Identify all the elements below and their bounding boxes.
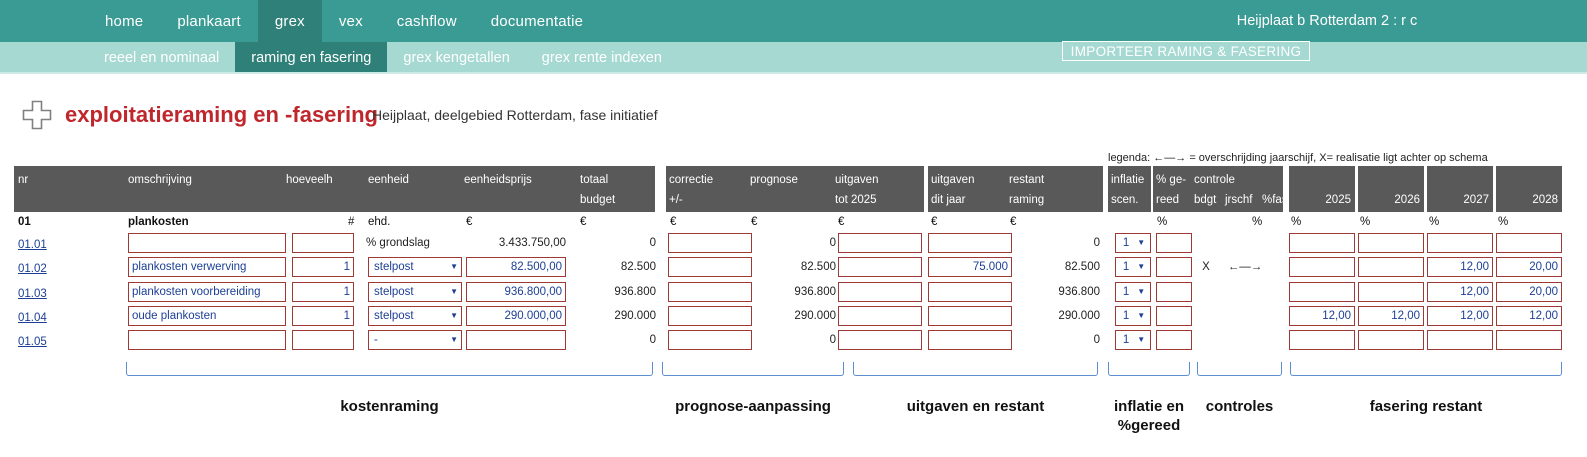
cell-2028-01-05[interactable] [1496, 330, 1562, 350]
cell-2028-01-01[interactable] [1496, 233, 1562, 253]
unit-pct-fas: % [1252, 216, 1262, 228]
select-inflatie-01-02[interactable]: 1▼ [1115, 257, 1151, 277]
select-eenheid-value: stelpost [374, 310, 414, 322]
static-restant-01-05: 0 [1016, 330, 1100, 350]
select-eenheid-value: stelpost [374, 286, 414, 298]
group-row-nr: 01 [18, 216, 31, 228]
row-link-01-02[interactable]: 01.02 [18, 263, 47, 275]
bracket-prognose-aanpassing [662, 362, 844, 376]
chevron-down-icon: ▼ [450, 263, 458, 271]
cell-eenheidsprijs-01-02[interactable]: 82.500,00 [466, 257, 566, 277]
marker-jrschf-01-05 [1192, 330, 1220, 350]
static-totaal-01-02: 82.500 [566, 257, 656, 277]
col-header-tot-2025: tot 2025 [835, 194, 877, 206]
cell-2026-01-05[interactable] [1358, 330, 1424, 350]
group-label-uitgaven-en-restant: uitgaven en restant [853, 398, 1098, 415]
group-row-label: plankosten [128, 216, 189, 228]
row-link-01-03[interactable]: 01.03 [18, 288, 47, 300]
chevron-down-icon: ▼ [1137, 263, 1145, 271]
cell-omschrijving-01-04[interactable]: oude plankosten [128, 306, 286, 326]
cell-eenheidsprijs-01-03[interactable]: 936.800,00 [466, 282, 566, 302]
cell-correctie-01-02[interactable] [668, 257, 752, 277]
static-totaal-01-05: 0 [566, 330, 656, 350]
group-label-inflatie-gereed: inflatie en %gereed [1094, 398, 1204, 436]
bracket-kostenraming [126, 362, 653, 376]
cell-pct-gereed-01-03[interactable] [1156, 282, 1192, 302]
marker-pct-fas-01-03 [1222, 282, 1268, 302]
header-block-controle: % ge- reed controle bdgt jrschf %fas. [1153, 166, 1283, 212]
marker-jrschf-01-02: X [1192, 257, 1220, 277]
header-block-2028: 2028 [1496, 166, 1562, 212]
header-block-prognose-aanpassing: correctie +/- prognose uitgaven tot 2025 [666, 166, 924, 212]
select-eenheid-01-02[interactable]: stelpost▼ [368, 257, 462, 277]
cell-hoeveelh-01-01[interactable] [292, 233, 354, 253]
cell-uitgaven-tot2025-01-02[interactable] [838, 257, 922, 277]
unit-totaal: € [580, 216, 586, 228]
cell-correctie-01-04[interactable] [668, 306, 752, 326]
cell-hoeveelh-01-04[interactable]: 1 [292, 306, 354, 326]
cell-pct-gereed-01-01[interactable] [1156, 233, 1192, 253]
static-prognose-01-01: 0 [756, 233, 836, 253]
chevron-down-icon: ▼ [1137, 336, 1145, 344]
unit-eenheidsprijs: € [466, 216, 472, 228]
cell-uitgaven-dit-jaar-01-02[interactable]: 75.000 [928, 257, 1012, 277]
unit-uitgaven-dit-jaar: € [931, 216, 937, 228]
cell-2027-01-02[interactable]: 12,00 [1427, 257, 1493, 277]
col-header-2027: 2027 [1463, 194, 1489, 206]
col-header-uitgaven-tot2025: uitgaven [835, 174, 878, 186]
row-link-01-04[interactable]: 01.04 [18, 312, 47, 324]
select-inflatie-value: 1 [1123, 286, 1129, 298]
cell-uitgaven-dit-jaar-01-05[interactable] [928, 330, 1012, 350]
cell-2026-01-04[interactable]: 12,00 [1358, 306, 1424, 326]
cell-omschrijving-01-01[interactable] [128, 233, 286, 253]
group-label-fasering-restant: fasering restant [1290, 398, 1562, 415]
select-inflatie-value: 1 [1123, 237, 1129, 249]
col-header-raming: raming [1009, 194, 1044, 206]
header-block-kostenraming: nr omschrijving hoeveelh eenheid eenheid… [14, 166, 655, 212]
chevron-down-icon: ▼ [1137, 312, 1145, 320]
select-inflatie-value: 1 [1123, 261, 1129, 273]
static-prognose-01-03: 936.800 [756, 282, 836, 302]
select-eenheid-01-04[interactable]: stelpost▼ [368, 306, 462, 326]
cell-2028-01-03[interactable]: 20,00 [1496, 282, 1562, 302]
chevron-down-icon: ▼ [450, 336, 458, 344]
cell-2027-01-05[interactable] [1427, 330, 1493, 350]
static-totaal-01-03: 936.800 [566, 282, 656, 302]
cell-2028-01-02[interactable]: 20,00 [1496, 257, 1562, 277]
chevron-down-icon: ▼ [1137, 288, 1145, 296]
header-block-uitgaven-restant: uitgaven dit jaar restant raming [928, 166, 1103, 212]
select-inflatie-01-04[interactable]: 1▼ [1115, 306, 1151, 326]
cell-2025-01-01[interactable] [1289, 233, 1355, 253]
group-label-prognose-aanpassing: prognose-aanpassing [662, 398, 844, 415]
header-block-2026: 2026 [1358, 166, 1424, 212]
cell-hoeveelh-01-05[interactable] [292, 330, 354, 350]
col-header-nr: nr [18, 174, 28, 186]
select-eenheid-value: stelpost [374, 261, 414, 273]
static-prognose-01-02: 82.500 [756, 257, 836, 277]
marker-pct-fas-01-05 [1222, 330, 1268, 350]
cell-uitgaven-tot2025-01-05[interactable] [838, 330, 922, 350]
unit-hoeveelh: # [348, 216, 354, 228]
static-prognose-01-05: 0 [756, 330, 836, 350]
col-header-controle: controle [1194, 174, 1235, 186]
static-restant-01-01: 0 [1016, 233, 1100, 253]
cell-uitgaven-tot2025-01-01[interactable] [838, 233, 922, 253]
select-inflatie-value: 1 [1123, 334, 1129, 346]
cell-correctie-01-05[interactable] [668, 330, 752, 350]
cell-uitgaven-dit-jaar-01-03[interactable] [928, 282, 1012, 302]
col-header-uitgaven-dit-jaar: uitgaven [931, 174, 974, 186]
group-label-kostenraming: kostenraming [126, 398, 653, 415]
cell-omschrijving-01-02[interactable]: plankosten verwerving [128, 257, 286, 277]
unit-restant: € [1010, 216, 1016, 228]
marker-pct-fas-01-02: ←—→ [1222, 257, 1268, 277]
col-header-restant: restant [1009, 174, 1044, 186]
cell-omschrijving-01-03[interactable]: plankosten voorbereiding [128, 282, 286, 302]
unit-uitgaven: € [838, 216, 844, 228]
header-block-2027: 2027 [1427, 166, 1493, 212]
cell-uitgaven-dit-jaar-01-04[interactable] [928, 306, 1012, 326]
cell-uitgaven-tot2025-01-03[interactable] [838, 282, 922, 302]
cell-pct-gereed-01-04[interactable] [1156, 306, 1192, 326]
cell-2025-01-04[interactable]: 12,00 [1289, 306, 1355, 326]
cell-pct-gereed-01-02[interactable] [1156, 257, 1192, 277]
static-totaal-01-01: 0 [566, 233, 656, 253]
select-eenheid-value: - [374, 334, 378, 346]
group-label-controles: controles [1197, 398, 1282, 415]
header-block-inflatie: inflatie scen. [1108, 166, 1151, 212]
cell-2025-01-05[interactable] [1289, 330, 1355, 350]
select-eenheid-01-05[interactable]: -▼ [368, 330, 462, 350]
static-eenheid-01-01: % grondslag [366, 233, 456, 253]
marker-jrschf-01-03 [1192, 282, 1220, 302]
row-link-01-01[interactable]: 01.01 [18, 239, 47, 251]
cell-correctie-01-03[interactable] [668, 282, 752, 302]
col-header-prognose: prognose [750, 174, 798, 186]
marker-jrschf-01-01 [1192, 233, 1220, 253]
cell-correctie-01-01[interactable] [668, 233, 752, 253]
col-header-omschrijving: omschrijving [128, 174, 192, 186]
cell-hoeveelh-01-02[interactable]: 1 [292, 257, 354, 277]
unit-2027: % [1429, 216, 1439, 228]
cell-uitgaven-dit-jaar-01-01[interactable] [928, 233, 1012, 253]
chevron-down-icon: ▼ [450, 288, 458, 296]
col-header-jrschf: jrschf [1225, 194, 1252, 206]
cell-2026-01-01[interactable] [1358, 233, 1424, 253]
col-header-scen: scen. [1111, 194, 1139, 206]
cell-2026-01-02[interactable] [1358, 257, 1424, 277]
col-header-reed: reed [1156, 194, 1179, 206]
select-inflatie-value: 1 [1123, 310, 1129, 322]
cell-2026-01-03[interactable] [1358, 282, 1424, 302]
col-header-dit-jaar: dit jaar [931, 194, 966, 206]
cell-hoeveelh-01-03[interactable]: 1 [292, 282, 354, 302]
col-header-plusminus: +/- [669, 194, 683, 206]
raming-fasering-sheet: nr omschrijving hoeveelh eenheid eenheid… [0, 0, 1587, 457]
bracket-fasering-restant [1290, 362, 1562, 376]
chevron-down-icon: ▼ [450, 312, 458, 320]
col-header-2026: 2026 [1394, 194, 1420, 206]
col-header-eenheid: eenheid [368, 174, 409, 186]
cell-uitgaven-tot2025-01-04[interactable] [838, 306, 922, 326]
static-restant-01-02: 82.500 [1016, 257, 1100, 277]
bracket-controles [1197, 362, 1282, 376]
static-prognose-01-04: 290.000 [756, 306, 836, 326]
col-header-totaal: totaal [580, 174, 608, 186]
select-eenheid-01-03[interactable]: stelpost▼ [368, 282, 462, 302]
static-restant-01-04: 290.000 [1016, 306, 1100, 326]
bracket-inflatie-gereed [1108, 362, 1190, 376]
col-header-eenheidsprijs: eenheidsprijs [464, 174, 532, 186]
col-header-2025: 2025 [1325, 194, 1351, 206]
static-totaal-01-04: 290.000 [566, 306, 656, 326]
unit-prognose: € [751, 216, 757, 228]
col-header-2028: 2028 [1532, 194, 1558, 206]
col-header-correctie: correctie [669, 174, 713, 186]
chevron-down-icon: ▼ [1137, 239, 1145, 247]
cell-2025-01-02[interactable] [1289, 257, 1355, 277]
col-header-inflatie: inflatie [1111, 174, 1144, 186]
col-header-bdgt: bdgt [1194, 194, 1216, 206]
unit-2026: % [1360, 216, 1370, 228]
static-eenheidsprijs-01-01: 3.433.750,00 [456, 233, 566, 253]
unit-correctie: € [670, 216, 676, 228]
unit-2025: % [1291, 216, 1301, 228]
select-inflatie-01-01[interactable]: 1▼ [1115, 233, 1151, 253]
cell-2027-01-03[interactable]: 12,00 [1427, 282, 1493, 302]
cell-2025-01-03[interactable] [1289, 282, 1355, 302]
select-inflatie-01-05[interactable]: 1▼ [1115, 330, 1151, 350]
cell-2028-01-04[interactable]: 12,00 [1496, 306, 1562, 326]
cell-2027-01-01[interactable] [1427, 233, 1493, 253]
marker-jrschf-01-04 [1192, 306, 1220, 326]
marker-pct-fas-01-04 [1222, 306, 1268, 326]
col-header-pct-fas: %fas. [1262, 194, 1291, 206]
cell-2027-01-04[interactable]: 12,00 [1427, 306, 1493, 326]
select-inflatie-01-03[interactable]: 1▼ [1115, 282, 1151, 302]
cell-pct-gereed-01-05[interactable] [1156, 330, 1192, 350]
cell-eenheidsprijs-01-04[interactable]: 290.000,00 [466, 306, 566, 326]
unit-eenheid: ehd. [368, 216, 390, 228]
marker-pct-fas-01-01 [1222, 233, 1268, 253]
unit-2028: % [1498, 216, 1508, 228]
cell-omschrijving-01-05[interactable] [128, 330, 286, 350]
unit-pct-gereed: % [1157, 216, 1167, 228]
col-header-pct-ge: % ge- [1156, 174, 1186, 186]
static-restant-01-03: 936.800 [1016, 282, 1100, 302]
bracket-uitgaven-en-restant [853, 362, 1098, 376]
header-block-2025: 2025 [1289, 166, 1355, 212]
cell-eenheidsprijs-01-05[interactable] [466, 330, 566, 350]
col-header-hoeveelh: hoeveelh [286, 174, 333, 186]
row-link-01-05[interactable]: 01.05 [18, 336, 47, 348]
col-header-budget: budget [580, 194, 615, 206]
